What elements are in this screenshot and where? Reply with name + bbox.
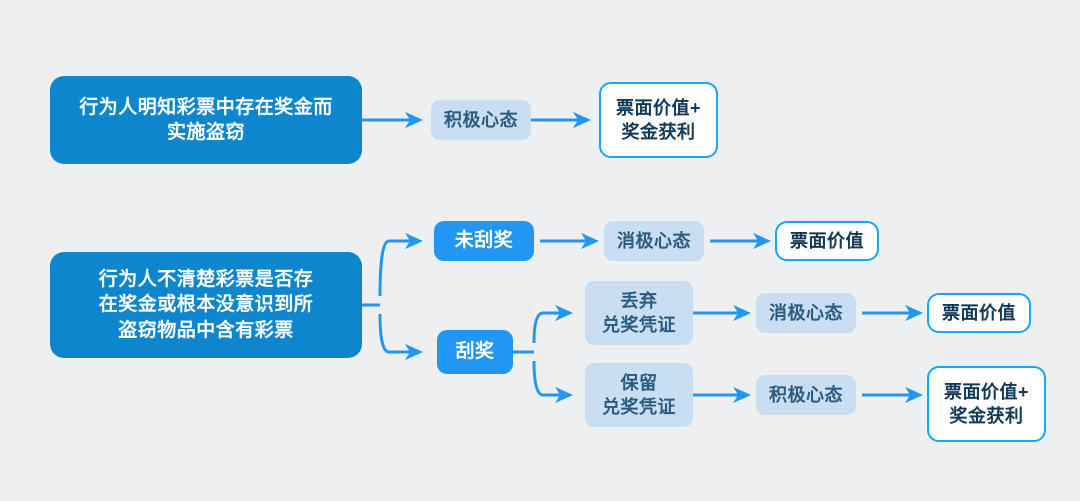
- node-result-keep[interactable]: 票面价值+ 奖金获利: [927, 366, 1046, 442]
- edge-unknown-split: [362, 241, 420, 352]
- node-mindset-keep[interactable]: 积极心态: [756, 375, 856, 415]
- edge-scratched-split: [513, 313, 570, 395]
- node-action-discard[interactable]: 丢弃 兑奖凭证: [585, 281, 693, 345]
- node-action-keep[interactable]: 保留 兑奖凭证: [585, 363, 693, 427]
- flowchart-canvas: 行为人明知彩票中存在奖金而 实施盗窃 积极心态 票面价值+ 奖金获利 行为人不清…: [0, 0, 1080, 501]
- node-mindset-discard[interactable]: 消极心态: [756, 293, 856, 333]
- node-mindset-not-scratched[interactable]: 消极心态: [604, 221, 704, 261]
- node-branch-not-scratched[interactable]: 未刮奖: [434, 221, 534, 261]
- node-source-known[interactable]: 行为人明知彩票中存在奖金而 实施盗窃: [50, 76, 362, 164]
- node-result-not-scratched[interactable]: 票面价值: [775, 221, 879, 261]
- node-result-discard[interactable]: 票面价值: [927, 293, 1031, 333]
- node-branch-scratched[interactable]: 刮奖: [437, 330, 513, 374]
- node-mindset-known[interactable]: 积极心态: [431, 100, 531, 140]
- node-result-known[interactable]: 票面价值+ 奖金获利: [599, 82, 718, 158]
- node-source-unknown[interactable]: 行为人不清楚彩票是否存 在奖金或根本没意识到所 盗窃物品中含有彩票: [50, 252, 362, 358]
